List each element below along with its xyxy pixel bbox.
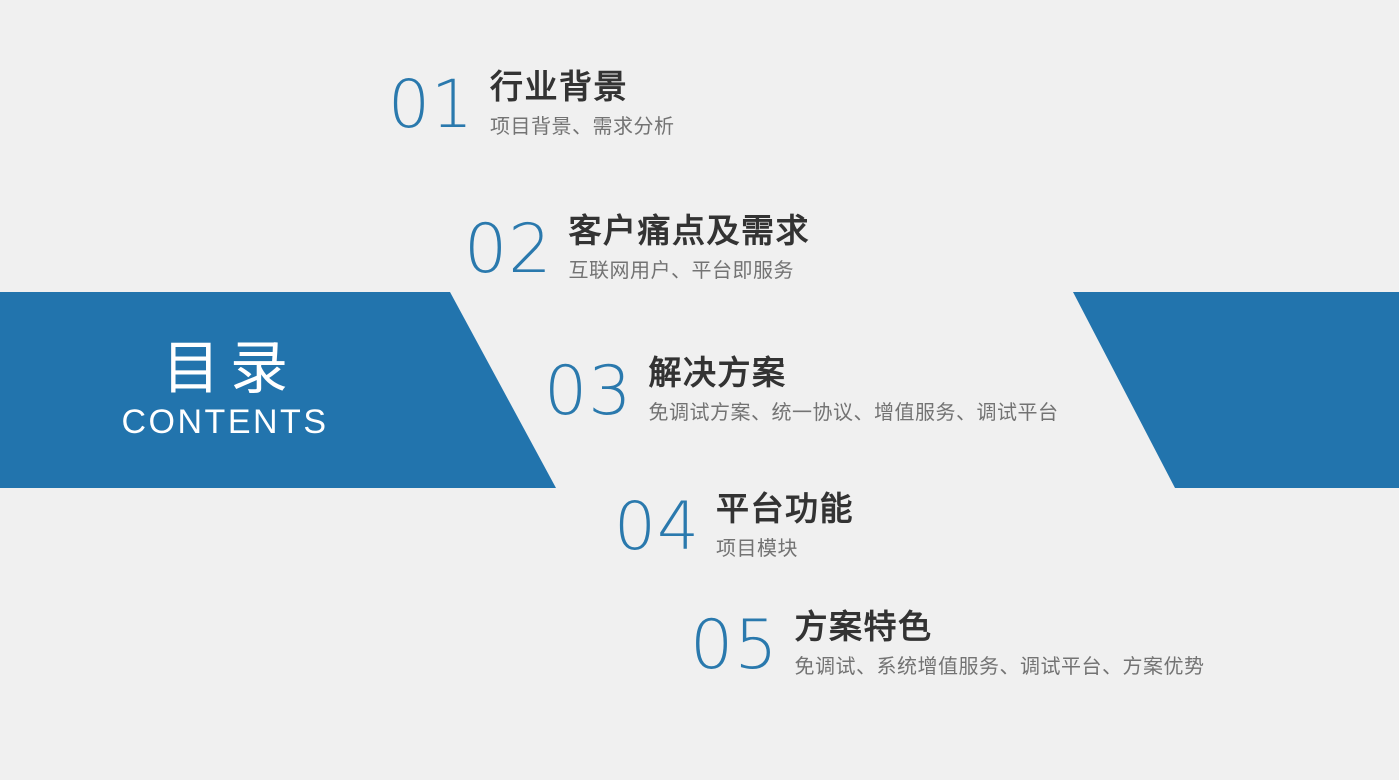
agenda-number-02: 02 — [464, 216, 553, 284]
agenda-title-01: 行业背景 — [490, 68, 675, 106]
agenda-title-03: 解决方案 — [649, 354, 1059, 392]
agenda-title-05: 方案特色 — [795, 608, 1205, 646]
agenda-number-04: 04 — [614, 494, 700, 560]
agenda-subtitle-05: 免调试、系统增值服务、调试平台、方案优势 — [795, 653, 1205, 679]
agenda-subtitle-02: 互联网用户、平台即服务 — [569, 257, 811, 283]
agenda-item-03[interactable]: 03 解决方案 免调试方案、统一协议、增值服务、调试平台 — [544, 354, 1059, 426]
agenda-item-02[interactable]: 02 客户痛点及需求 互联网用户、平台即服务 — [464, 212, 810, 284]
agenda-number-03: 03 — [544, 358, 633, 426]
agenda-item-01[interactable]: 01 行业背景 项目背景、需求分析 — [388, 68, 674, 139]
banner-left-shape — [0, 292, 556, 488]
agenda-title-02: 客户痛点及需求 — [569, 212, 811, 250]
agenda-text-03: 解决方案 免调试方案、统一协议、增值服务、调试平台 — [649, 354, 1059, 425]
agenda-item-05[interactable]: 05 方案特色 免调试、系统增值服务、调试平台、方案优势 — [690, 608, 1205, 680]
agenda-subtitle-03: 免调试方案、统一协议、增值服务、调试平台 — [649, 399, 1059, 425]
agenda-text-04: 平台功能 项目模块 — [716, 490, 854, 561]
agenda-number-01: 01 — [388, 72, 474, 138]
agenda-subtitle-04: 项目模块 — [716, 535, 854, 561]
agenda-item-04[interactable]: 04 平台功能 项目模块 — [614, 490, 854, 561]
table-of-contents-slide: 目录 CONTENTS 01 行业背景 项目背景、需求分析 02 客户痛点及需求… — [0, 0, 1399, 780]
agenda-number-05: 05 — [690, 612, 779, 680]
agenda-subtitle-01: 项目背景、需求分析 — [490, 113, 675, 139]
agenda-text-05: 方案特色 免调试、系统增值服务、调试平台、方案优势 — [795, 608, 1205, 679]
banner-right-shape — [1072, 292, 1399, 488]
agenda-title-04: 平台功能 — [716, 490, 854, 528]
agenda-text-01: 行业背景 项目背景、需求分析 — [490, 68, 675, 139]
agenda-text-02: 客户痛点及需求 互联网用户、平台即服务 — [569, 212, 811, 283]
